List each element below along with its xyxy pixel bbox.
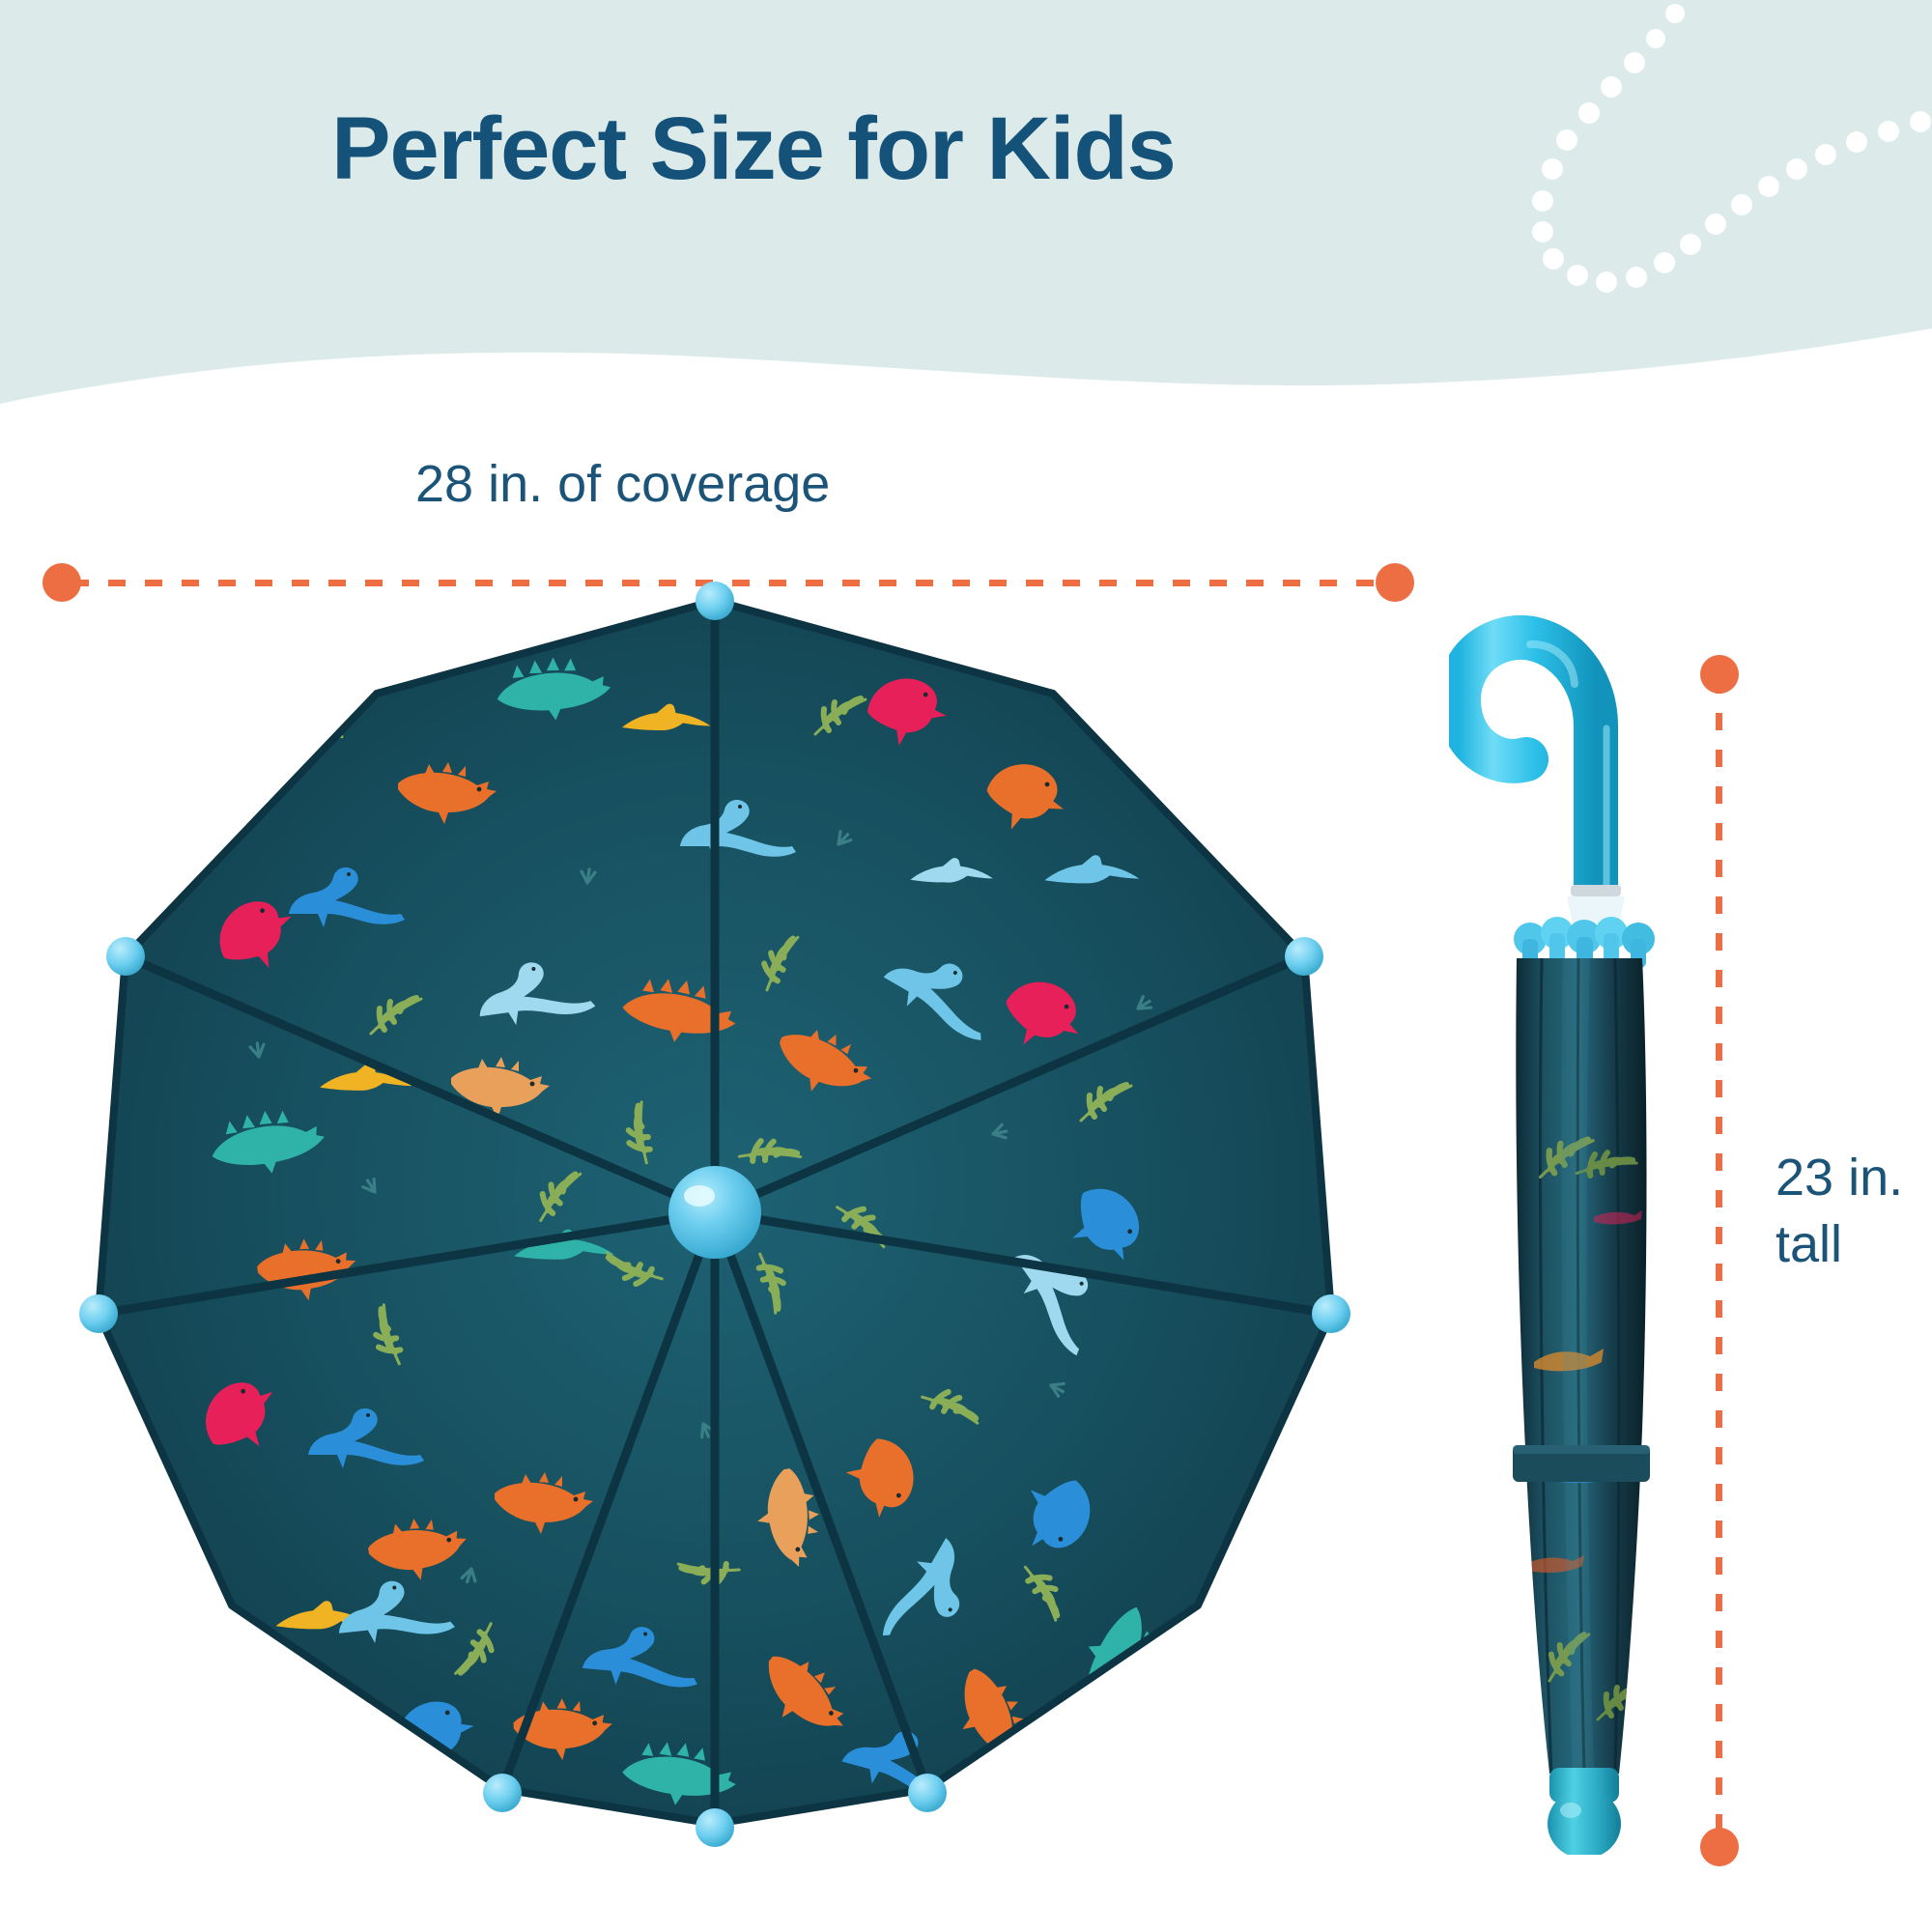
umbrella-open-illustration xyxy=(77,580,1352,1864)
umbrella-closed-side-view xyxy=(1449,599,1719,1855)
width-dimension-endpoint-left xyxy=(43,563,81,602)
infographic-canvas: Perfect Size for Kids 28 in. of coverage… xyxy=(0,0,1932,1932)
width-dimension-endpoint-right xyxy=(1376,563,1414,602)
height-dimension-label: 23 in. tall xyxy=(1776,1145,1920,1278)
page-title: Perfect Size for Kids xyxy=(0,104,1507,193)
umbrella-center-hub xyxy=(668,1166,761,1259)
width-dimension-label: 28 in. of coverage xyxy=(415,454,830,514)
umbrella-handle xyxy=(1459,638,1606,889)
umbrella-open-top-view xyxy=(77,580,1352,1864)
height-dimension-label-line1: 23 in. xyxy=(1776,1145,1920,1211)
umbrella-ferrule-tip xyxy=(1548,1768,1621,1855)
header-background-shape xyxy=(0,0,1932,406)
umbrella-closed-illustration xyxy=(1449,599,1719,1855)
height-dimension-label-line2: tall xyxy=(1776,1211,1920,1278)
umbrella-folded-fabric xyxy=(1513,958,1650,1774)
header-band: Perfect Size for Kids xyxy=(0,0,1932,406)
